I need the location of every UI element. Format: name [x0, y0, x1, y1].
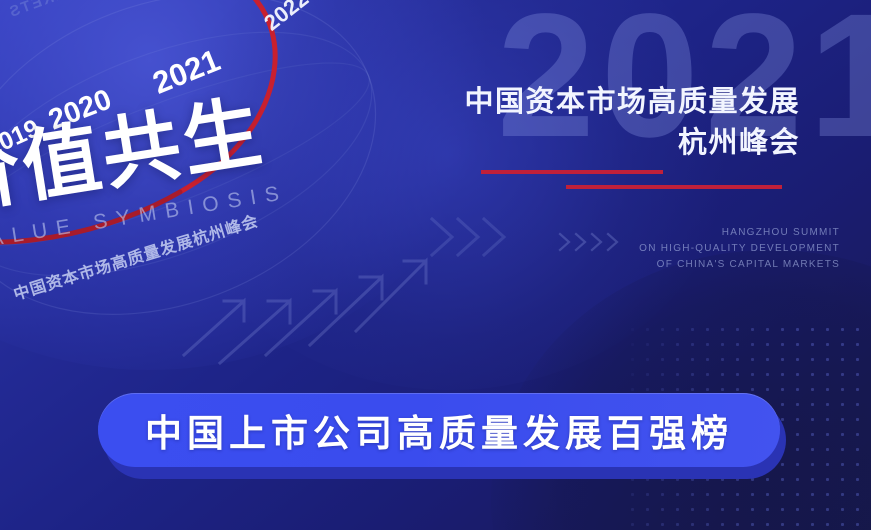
english-subtitle-line-1: HANGZHOU SUMMIT: [560, 225, 840, 241]
english-subtitle: HANGZHOU SUMMIT ON HIGH-QUALITY DEVELOPM…: [560, 225, 840, 274]
title-underline-upper: [481, 170, 663, 174]
background-glow-bottom-right: [491, 250, 871, 530]
cta-button-surface[interactable]: 中国上市公司高质量发展百强榜: [98, 393, 780, 467]
title-line-2: 杭州峰会: [430, 123, 800, 164]
cta-button-label: 中国上市公司高质量发展百强榜: [145, 403, 733, 457]
title-underline-lower: [566, 185, 782, 189]
value-symbiosis-logo: HANGZHOU SUMMIT ON HIGH-QUALITY DEVELOPM…: [0, 0, 400, 364]
title-line-1: 中国资本市场高质量发展: [430, 82, 800, 123]
english-subtitle-line-2: ON HIGH-QUALITY DEVELOPMENT: [560, 241, 840, 257]
year-label-2022: 2022: [259, 0, 314, 36]
page-title: 中国资本市场高质量发展 杭州峰会: [430, 82, 800, 164]
summit-poster: 2021 HANGZHOU SUMMIT ON HIGH-QUALITY DEV…: [0, 0, 871, 530]
english-subtitle-line-3: OF CHINA'S CAPITAL MARKETS: [560, 257, 840, 273]
cta-button[interactable]: 中国上市公司高质量发展百强榜: [98, 393, 780, 475]
